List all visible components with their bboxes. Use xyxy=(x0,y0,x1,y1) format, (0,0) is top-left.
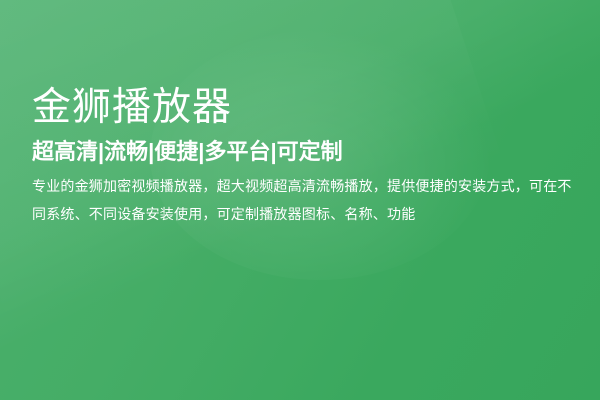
product-description: 专业的金狮加密视频播放器，超大视频超高清流畅播放，提供便捷的安装方式，可在不同系… xyxy=(32,172,572,228)
product-title: 金狮播放器 xyxy=(32,84,572,132)
product-promo-banner: 金狮播放器 超高清|流畅|便捷|多平台|可定制 专业的金狮加密视频播放器，超大视… xyxy=(0,0,600,400)
product-feature-tagline: 超高清|流畅|便捷|多平台|可定制 xyxy=(32,136,572,168)
banner-content: 金狮播放器 超高清|流畅|便捷|多平台|可定制 专业的金狮加密视频播放器，超大视… xyxy=(32,84,572,228)
